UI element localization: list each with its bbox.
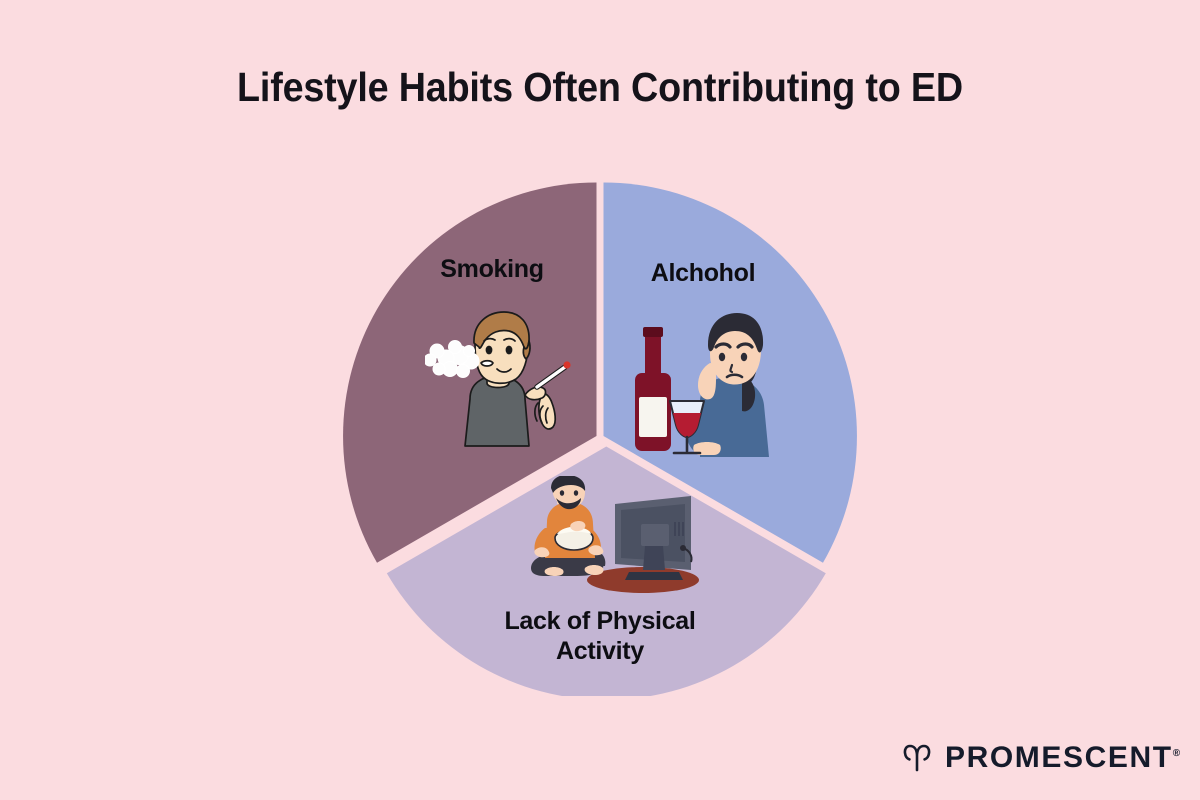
pie-label-smoking: Smoking: [392, 255, 592, 285]
smoke-puff: [425, 341, 479, 378]
aries-ram-icon: [902, 743, 932, 773]
alcohol-illustration: [622, 305, 784, 457]
brand-name: PROMESCENT®: [945, 741, 1180, 775]
brand-logo: PROMESCENT®: [902, 741, 1180, 775]
pie-label-inactivity-line2: Activity: [470, 637, 730, 667]
pie-chart: Smoking Alchohol Lack of Physical Activi…: [0, 0, 1200, 800]
infographic-canvas: Lifestyle Habits Often Contributing to E…: [0, 0, 1200, 800]
trademark-symbol: ®: [1173, 748, 1180, 759]
pie-label-inactivity: Lack of Physical Activity: [470, 607, 730, 666]
smoking-illustration: [425, 303, 585, 448]
pie-label-inactivity-line1: Lack of Physical: [470, 607, 730, 637]
inactivity-illustration: [523, 476, 699, 596]
pie-label-alcohol: Alchohol: [608, 259, 798, 289]
